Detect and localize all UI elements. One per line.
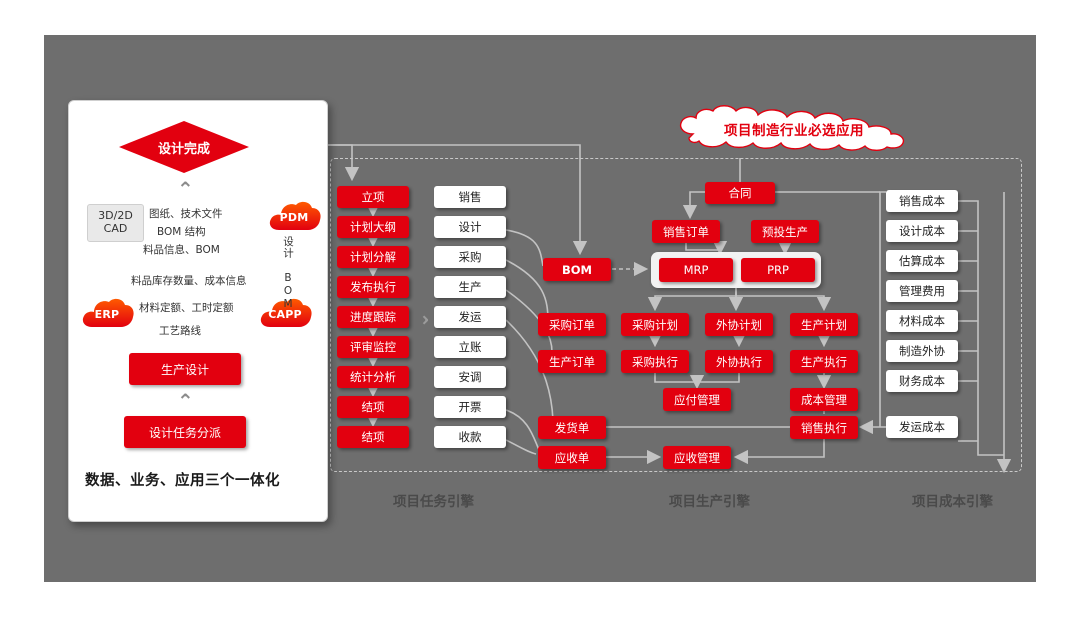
engine-label-cost: 项目成本引擎 (912, 490, 993, 510)
design-panel: 设计完成 ⌃ 3D/2DCAD PDM ERP (68, 100, 328, 522)
task-white-0[interactable]: 销售 (434, 186, 506, 208)
diagram-canvas: 项目制造行业必选应用 设计完成 ⌃ 3D/2DCAD PDM (0, 0, 1080, 617)
cost-item-5[interactable]: 制造外协 (886, 340, 958, 362)
chevron-right-icon: ⌃ (410, 312, 430, 329)
cad-box-label: 3D/2DCAD (98, 210, 133, 235)
task-white-1[interactable]: 设计 (434, 216, 506, 238)
task-white-5[interactable]: 立账 (434, 336, 506, 358)
sales-order-node[interactable]: 销售订单 (652, 220, 720, 243)
flow-label-1: BOM 结构 (157, 224, 206, 239)
payable-mgmt-node[interactable]: 应付管理 (663, 388, 731, 411)
cad-box: 3D/2DCAD (87, 204, 144, 242)
purchase-exec-node[interactable]: 采购执行 (621, 350, 689, 373)
outsourcing-exec-node[interactable]: 外协执行 (705, 350, 773, 373)
task-step-1[interactable]: 计划大纲 (337, 216, 409, 238)
task-step-5[interactable]: 评审监控 (337, 336, 409, 358)
task-step-3[interactable]: 发布执行 (337, 276, 409, 298)
task-step-4[interactable]: 进度跟踪 (337, 306, 409, 328)
task-step-7[interactable]: 结项 (337, 396, 409, 418)
production-exec-node[interactable]: 生产执行 (790, 350, 858, 373)
cost-item-1[interactable]: 设计成本 (886, 220, 958, 242)
task-step-0[interactable]: 立项 (337, 186, 409, 208)
task-white-2[interactable]: 采购 (434, 246, 506, 268)
receivable-note-node[interactable]: 应收单 (538, 446, 606, 469)
cost-mgmt-node[interactable]: 成本管理 (790, 388, 858, 411)
production-plan-node[interactable]: 生产计划 (790, 313, 858, 336)
task-white-4[interactable]: 发运 (434, 306, 506, 328)
chevron-up-icon-1: ⌃ (177, 179, 194, 199)
cloud-pdm-label: PDM (266, 211, 322, 224)
task-white-7[interactable]: 开票 (434, 396, 506, 418)
cloud-erp[interactable]: ERP (79, 296, 135, 332)
flow-label-4: 材料定额、工时定额 (139, 300, 234, 315)
delivery-note-node[interactable]: 发货单 (538, 416, 606, 439)
cloud-banner: 项目制造行业必选应用 (663, 104, 925, 152)
production-design-button[interactable]: 生产设计 (129, 353, 241, 385)
outsourcing-plan-node[interactable]: 外协计划 (705, 313, 773, 336)
task-white-8[interactable]: 收款 (434, 426, 506, 448)
cost-item-4[interactable]: 材料成本 (886, 310, 958, 332)
cloud-capp-label: CAPP (257, 308, 313, 321)
task-step-2[interactable]: 计划分解 (337, 246, 409, 268)
pre-production-node[interactable]: 预投生产 (751, 220, 819, 243)
task-step-6[interactable]: 统计分析 (337, 366, 409, 388)
contract-node[interactable]: 合同 (705, 182, 775, 204)
chevron-up-icon-2: ⌃ (177, 391, 194, 411)
panel-caption: 数据、业务、应用三个一体化 (85, 469, 280, 490)
cost-item-6[interactable]: 财务成本 (886, 370, 958, 392)
design-complete-diamond[interactable]: 设计完成 (119, 121, 249, 173)
task-white-3[interactable]: 生产 (434, 276, 506, 298)
cost-item-7[interactable]: 发运成本 (886, 416, 958, 438)
purchase-plan-node[interactable]: 采购计划 (621, 313, 689, 336)
cost-item-2[interactable]: 估算成本 (886, 250, 958, 272)
design-task-assign-button[interactable]: 设计任务分派 (124, 416, 246, 448)
task-step-8[interactable]: 结项 (337, 426, 409, 448)
receivable-mgmt-node[interactable]: 应收管理 (663, 446, 731, 469)
engine-label-task: 项目任务引擎 (393, 490, 474, 510)
task-white-6[interactable]: 安调 (434, 366, 506, 388)
cost-item-3[interactable]: 管理费用 (886, 280, 958, 302)
cloud-banner-label: 项目制造行业必选应用 (663, 119, 925, 139)
cloud-erp-label: ERP (79, 308, 135, 321)
bom-node[interactable]: BOM (543, 258, 611, 281)
flow-label-0: 图纸、技术文件 (149, 206, 223, 221)
production-order-node[interactable]: 生产订单 (538, 350, 606, 373)
purchase-order-node[interactable]: 采购订单 (538, 313, 606, 336)
engine-label-production: 项目生产引擎 (669, 490, 750, 510)
flow-label-5: 工艺路线 (159, 323, 201, 338)
design-bom-vertical-label: 设计 BOM (281, 236, 296, 311)
cost-item-0[interactable]: 销售成本 (886, 190, 958, 212)
flow-label-3: 料品库存数量、成本信息 (131, 273, 247, 288)
sales-exec-node[interactable]: 销售执行 (790, 416, 858, 439)
flow-label-2: 料品信息、BOM (143, 242, 220, 257)
cloud-pdm[interactable]: PDM (266, 199, 322, 235)
prp-node[interactable]: PRP (741, 258, 815, 282)
mrp-node[interactable]: MRP (659, 258, 733, 282)
